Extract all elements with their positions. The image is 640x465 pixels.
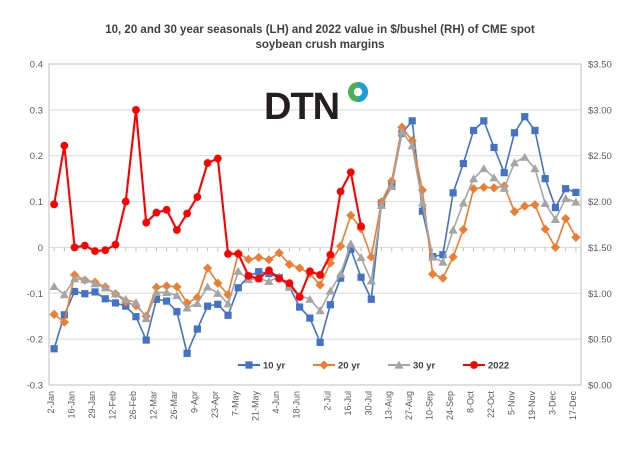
x-axis-tick-label: 17-Dec xyxy=(568,391,578,421)
data-point-circle xyxy=(275,275,283,283)
data-point-circle xyxy=(245,272,253,280)
data-point-square xyxy=(102,295,109,302)
ring-icon-hole xyxy=(354,88,362,96)
data-point-circle xyxy=(173,226,181,234)
data-point-circle xyxy=(132,106,140,114)
data-point-circle xyxy=(265,266,273,274)
y-axis-left-tick-label: 0.1 xyxy=(30,197,43,208)
data-point-square xyxy=(470,127,477,134)
data-point-diamond xyxy=(336,241,345,250)
x-axis-tick-label: 13-Aug xyxy=(384,391,394,420)
x-axis-tick-label: 5-Nov xyxy=(507,391,517,416)
y-axis-right-tick-label: $1.00 xyxy=(588,289,612,300)
y-axis-right-tick-label: $2.00 xyxy=(588,197,612,208)
data-point-diamond xyxy=(561,214,570,223)
data-point-square xyxy=(317,339,324,346)
data-point-square xyxy=(480,117,487,124)
x-axis-tick-label: 27-Aug xyxy=(404,391,414,420)
x-axis-tick-label: 12-Mar xyxy=(148,391,158,420)
data-point-square xyxy=(521,113,528,120)
data-point-circle xyxy=(296,293,304,301)
data-point-square xyxy=(511,129,518,136)
data-point-square xyxy=(531,127,538,134)
data-point-diamond xyxy=(479,183,488,192)
data-point-square xyxy=(235,284,242,291)
data-point-square xyxy=(542,175,549,182)
chart-legend: 10 yr20 yr30 yr2022 xyxy=(238,360,509,371)
data-point-diamond xyxy=(541,224,550,233)
data-point-square xyxy=(143,336,150,343)
data-point-square xyxy=(450,189,457,196)
x-axis-tick-label: 21-May xyxy=(251,391,261,422)
data-point-triangle xyxy=(520,153,529,161)
chart-title: 10, 20 and 30 year seasonals (LH) and 20… xyxy=(105,24,535,36)
y-axis-left-tick-label: 0 xyxy=(38,243,43,254)
data-point-circle xyxy=(81,242,89,250)
x-axis-tick-label: 30-Jul xyxy=(363,391,373,416)
data-point-diamond xyxy=(551,243,560,252)
series-20-yr xyxy=(50,123,581,327)
data-point-square xyxy=(245,361,252,368)
data-point-diamond xyxy=(244,255,253,264)
data-point-circle xyxy=(224,250,232,258)
data-point-diamond xyxy=(449,252,458,261)
x-axis-tick-label: 2-Jan xyxy=(46,391,56,414)
data-point-square xyxy=(357,274,364,281)
data-point-square xyxy=(173,308,180,315)
y-axis-left-tick-label: -0.1 xyxy=(27,289,43,300)
data-point-square xyxy=(112,299,119,306)
data-point-triangle xyxy=(541,199,550,207)
data-point-square xyxy=(224,312,231,319)
data-point-diamond xyxy=(295,263,304,272)
data-point-diamond xyxy=(438,274,447,283)
data-point-circle xyxy=(306,267,314,275)
chart-subtitle: soybean crush margins xyxy=(255,39,384,51)
data-point-diamond xyxy=(264,255,273,264)
data-point-circle xyxy=(204,159,212,167)
data-point-square xyxy=(204,303,211,310)
data-point-circle xyxy=(163,206,171,214)
y-axis-right-tick-label: $3.00 xyxy=(588,105,612,116)
data-point-square xyxy=(51,345,58,352)
data-point-circle xyxy=(347,168,355,176)
data-point-circle xyxy=(470,361,478,369)
chart-container: 10, 20 and 30 year seasonals (LH) and 20… xyxy=(0,0,640,460)
data-point-square xyxy=(409,117,416,124)
data-point-square xyxy=(572,189,579,196)
data-point-circle xyxy=(357,222,365,230)
x-axis-tick-label: 9-Apr xyxy=(189,391,199,413)
data-point-diamond xyxy=(203,263,212,272)
data-point-square xyxy=(132,313,139,320)
x-axis-tick-label: 29-Jan xyxy=(87,391,97,419)
data-point-square xyxy=(490,144,497,151)
data-point-circle xyxy=(214,155,222,163)
data-point-circle xyxy=(234,250,242,258)
x-axis-tick-label: 26-Mar xyxy=(169,391,179,420)
data-point-diamond xyxy=(319,360,328,369)
data-point-circle xyxy=(337,188,345,196)
data-point-circle xyxy=(50,200,58,208)
data-point-diamond xyxy=(459,225,468,234)
data-point-triangle xyxy=(418,199,427,207)
y-axis-right-tick-label: $3.50 xyxy=(588,60,612,71)
x-axis-tick-label: 23-Apr xyxy=(210,391,220,418)
x-axis-tick-label: 10-Sep xyxy=(425,391,435,420)
x-axis-tick-label: 18-Jun xyxy=(292,391,302,419)
data-point-triangle xyxy=(367,277,376,285)
data-point-diamond xyxy=(510,207,519,216)
dtn-logo-text: DTN xyxy=(264,86,339,128)
data-point-circle xyxy=(91,247,99,255)
data-point-triangle xyxy=(479,164,488,172)
x-axis-tick-label: 3-Dec xyxy=(547,391,557,416)
data-point-triangle xyxy=(438,258,447,266)
y-axis-left-tick-label: -0.2 xyxy=(27,335,43,346)
x-axis-tick-label: 8-Oct xyxy=(466,391,476,414)
y-axis-left-tick-label: 0.4 xyxy=(30,60,43,71)
data-point-circle xyxy=(316,271,324,279)
y-axis-left-tick-label: 0.2 xyxy=(30,151,43,162)
y-axis-left-tick-label: -0.3 xyxy=(27,381,43,392)
data-point-triangle xyxy=(203,282,212,290)
x-axis-tick-label: 16-Jul xyxy=(343,391,353,416)
x-axis-tick-label: 22-Oct xyxy=(486,391,496,419)
series-line xyxy=(54,132,576,319)
x-axis-tick-label: 16-Jan xyxy=(67,391,77,419)
x-axis-tick-label: 26-Feb xyxy=(128,391,138,420)
data-point-triangle xyxy=(459,199,468,207)
data-point-square xyxy=(184,350,191,357)
y-axis-right-tick-label: $2.50 xyxy=(588,151,612,162)
data-point-circle xyxy=(142,219,150,227)
data-point-square xyxy=(91,288,98,295)
data-point-diamond xyxy=(254,253,263,262)
x-axis-tick-label: 4-Jun xyxy=(271,391,281,414)
series-10-yr xyxy=(51,113,580,357)
dtn-logo: DTN xyxy=(264,82,368,128)
data-point-square xyxy=(81,290,88,297)
data-point-diamond xyxy=(520,202,529,211)
y-axis-right-tick-label: $1.50 xyxy=(588,243,612,254)
data-point-square xyxy=(296,303,303,310)
data-point-triangle xyxy=(50,282,59,290)
legend-label: 2022 xyxy=(488,361,509,372)
data-point-circle xyxy=(193,193,201,201)
data-point-circle xyxy=(112,241,120,249)
data-point-square xyxy=(214,301,221,308)
crush-margin-chart: 10, 20 and 30 year seasonals (LH) and 20… xyxy=(0,0,640,460)
data-point-square xyxy=(163,297,170,304)
data-point-square xyxy=(368,296,375,303)
x-axis-tick-label: 7-May xyxy=(230,391,240,417)
data-point-circle xyxy=(183,210,191,218)
data-point-square xyxy=(460,160,467,167)
x-axis-tick-label: 19-Nov xyxy=(527,391,537,421)
data-point-circle xyxy=(286,279,294,287)
y-axis-left-tick-label: 0.3 xyxy=(30,105,43,116)
y-axis-right-tick-label: $0.50 xyxy=(588,335,612,346)
data-point-circle xyxy=(60,142,68,150)
y-axis-right-tick-label: $0.00 xyxy=(588,381,612,392)
data-point-triangle xyxy=(551,215,560,223)
legend-label: 20 yr xyxy=(338,361,360,372)
data-point-square xyxy=(501,169,508,176)
x-axis-tick-label: 2-Jul xyxy=(322,391,332,411)
data-point-triangle xyxy=(449,226,458,234)
legend-label: 10 yr xyxy=(263,361,285,372)
data-point-circle xyxy=(326,251,334,259)
legend-label: 30 yr xyxy=(413,361,435,372)
data-point-square xyxy=(327,301,334,308)
data-point-square xyxy=(194,325,201,332)
data-point-diamond xyxy=(172,282,181,291)
x-axis-tick-label: 12-Feb xyxy=(108,391,118,420)
data-point-square xyxy=(562,185,569,192)
data-point-circle xyxy=(101,246,109,254)
data-point-circle xyxy=(153,209,161,217)
data-point-diamond xyxy=(489,183,498,192)
data-point-triangle xyxy=(346,239,355,247)
data-point-circle xyxy=(122,198,130,206)
data-point-triangle xyxy=(510,158,519,166)
x-axis-tick-label: 24-Sep xyxy=(445,391,455,420)
data-point-square xyxy=(552,204,559,211)
data-point-triangle xyxy=(193,299,202,307)
data-point-diamond xyxy=(428,269,437,278)
data-point-triangle xyxy=(326,287,335,295)
data-point-circle xyxy=(71,244,79,252)
data-point-diamond xyxy=(571,233,580,242)
data-point-square xyxy=(306,314,313,321)
data-point-circle xyxy=(255,275,263,283)
